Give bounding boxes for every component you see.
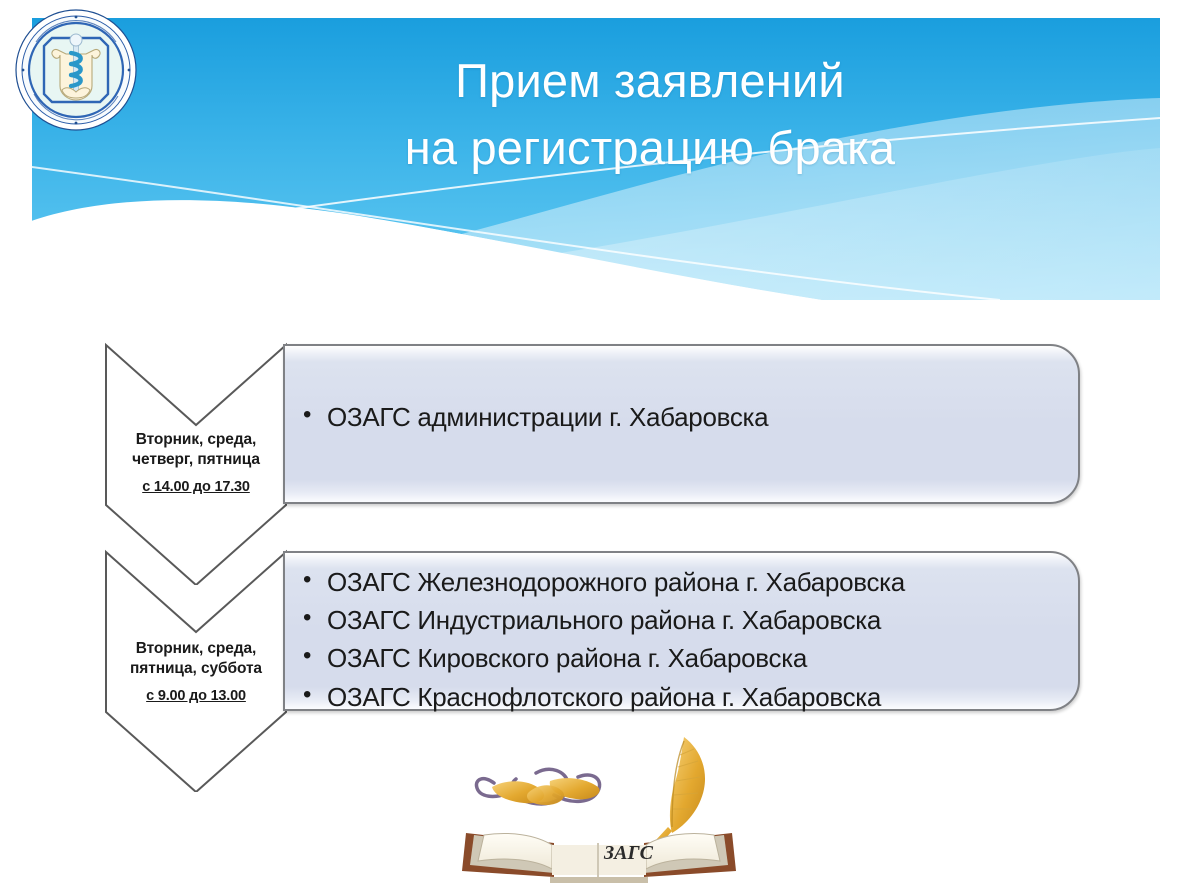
office-box-2: ОЗАГС Железнодорожного района г. Хабаров… [283, 551, 1080, 711]
office-box-1: ОЗАГС администрации г. Хабаровска [283, 344, 1080, 504]
list-item: ОЗАГС Железнодорожного района г. Хабаров… [301, 567, 1078, 598]
emblem-icon [14, 8, 138, 132]
slide-canvas: Прием заявлений на регистрацию брака Вто… [0, 0, 1185, 888]
office-list-2: ОЗАГС Железнодорожного района г. Хабаров… [285, 553, 1078, 713]
office-list-1: ОЗАГС администрации г. Хабаровска [285, 346, 1078, 433]
organization-logo-icon [14, 8, 138, 132]
list-item: ОЗАГС Кировского района г. Хабаровска [301, 643, 1078, 674]
book-quill-rings-illustration: ЗАГС [432, 735, 762, 885]
book-label: ЗАГС [603, 842, 654, 864]
list-item: ОЗАГС Индустриального района г. Хабаровс… [301, 605, 1078, 636]
chevron-days-1: Вторник, среда, четверг, пятница [104, 430, 288, 470]
chevron-days-2: Вторник, среда, пятница, суббота [104, 639, 288, 679]
list-item: ОЗАГС Краснофлотского района г. Хабаровс… [301, 682, 1078, 713]
page-title: Прием заявлений на регистрацию брака [150, 48, 1150, 181]
page-title-line-1: Прием заявлений [150, 48, 1150, 115]
chevron-hours-1: с 14.00 до 17.30 [104, 479, 288, 495]
header-banner: Прием заявлений на регистрацию брака [0, 0, 1185, 330]
list-item: ОЗАГС администрации г. Хабаровска [301, 402, 1078, 433]
chevron-hours-2: с 9.00 до 13.00 [104, 688, 288, 704]
registry-book-icon: ЗАГС [432, 735, 762, 885]
chevron-label-2: Вторник, среда, пятница, суббота с 9.00 … [104, 639, 288, 704]
page-title-line-2: на регистрацию брака [150, 115, 1150, 182]
chevron-label-1: Вторник, среда, четверг, пятница с 14.00… [104, 430, 288, 495]
wedding-rings-icon [476, 769, 599, 805]
open-book-icon: ЗАГС [462, 833, 736, 883]
